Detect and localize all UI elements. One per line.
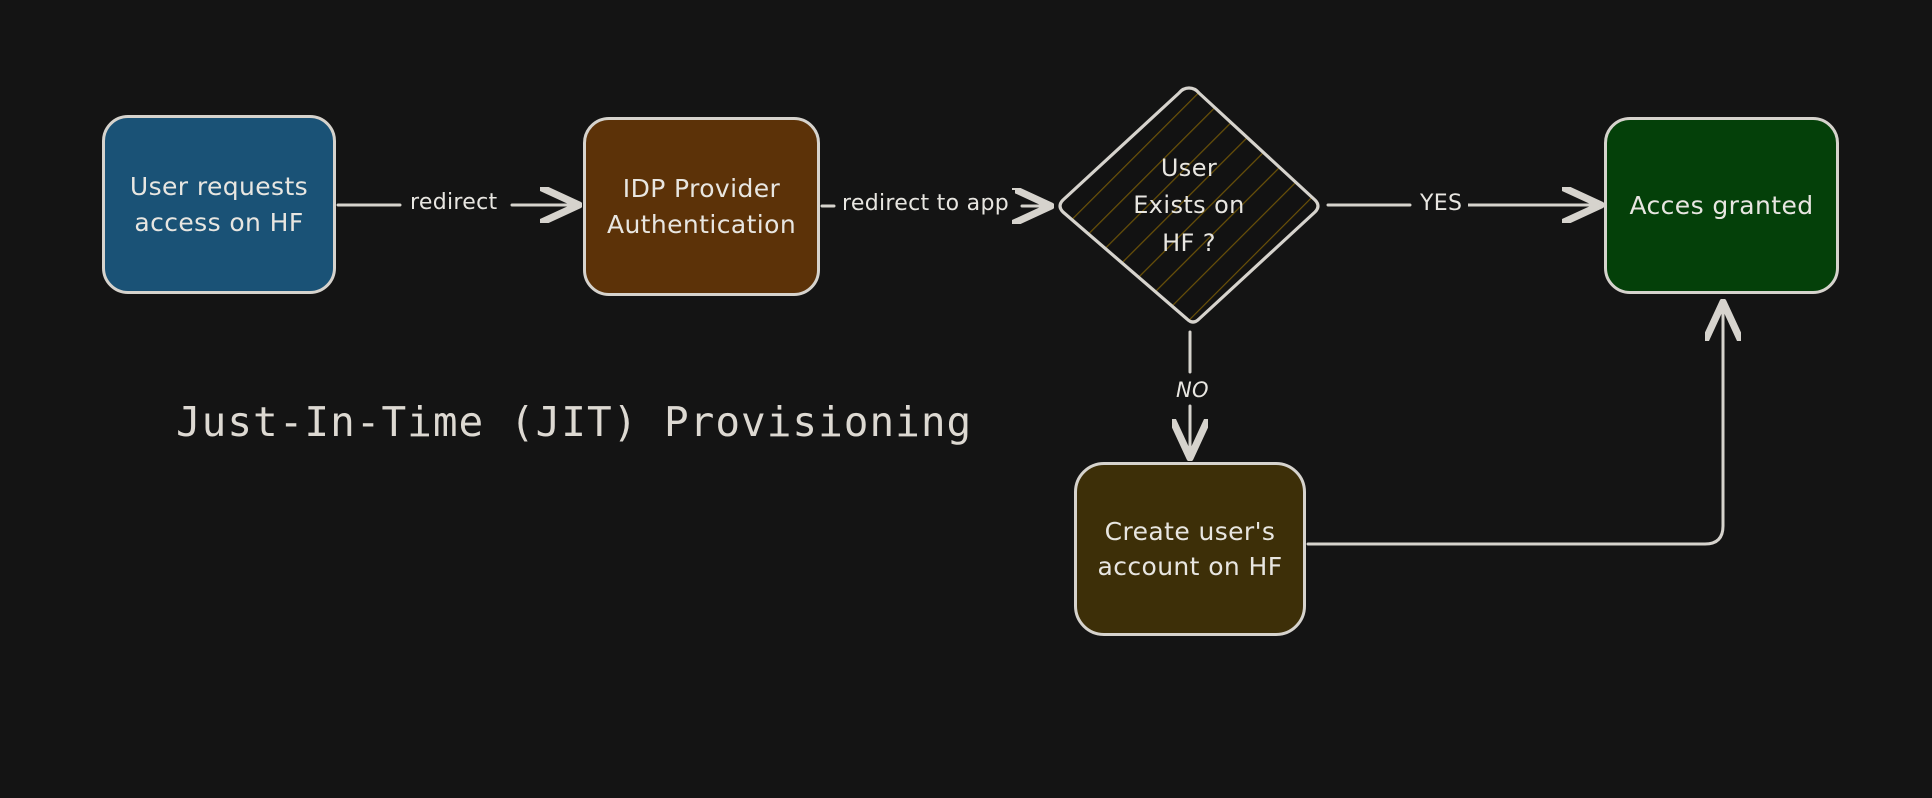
node-idp-provider[interactable]: IDP Provider Authentication xyxy=(583,117,820,296)
node-access-granted[interactable]: Acces granted xyxy=(1604,117,1839,294)
edge-return xyxy=(1308,305,1723,544)
node-create-account[interactable]: Create user's account on HF xyxy=(1074,462,1306,636)
diagram-title: Just-In-Time (JIT) Provisioning xyxy=(176,398,972,446)
node-decision-user-exists[interactable]: User Exists on HF ? xyxy=(1053,82,1325,330)
node-access-granted-label: Acces granted xyxy=(1629,188,1813,224)
edge-label-redirect-to-app: redirect to app xyxy=(836,190,1015,217)
node-user-request-label: User requests access on HF xyxy=(130,169,308,240)
edge-label-no: NO xyxy=(1170,377,1215,403)
node-create-account-label: Create user's account on HF xyxy=(1097,514,1282,585)
edge-label-yes: YES xyxy=(1414,190,1468,217)
node-user-request[interactable]: User requests access on HF xyxy=(102,115,336,294)
node-idp-provider-label: IDP Provider Authentication xyxy=(607,171,796,242)
diamond-shape xyxy=(1053,82,1325,330)
edge-label-redirect: redirect xyxy=(404,189,503,216)
